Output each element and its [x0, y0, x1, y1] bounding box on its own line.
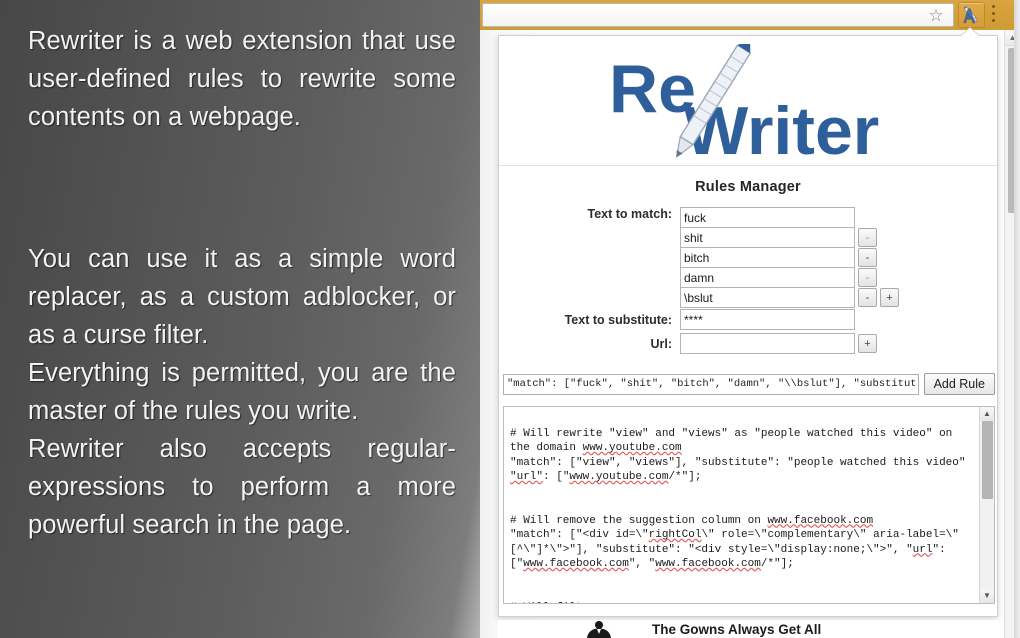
add-url-button[interactable]: + [858, 334, 877, 353]
window-right-edge [1014, 0, 1020, 638]
textarea-scroll-thumb[interactable] [982, 421, 993, 499]
bottom-ad[interactable]: The Gowns Always Get All [498, 620, 998, 638]
match-input-1[interactable] [680, 227, 855, 248]
match-input-stack: - - - - [680, 207, 899, 307]
rewriter-popup: Re Writer [498, 35, 998, 617]
code-block-2: # Will filter curses on every pages "mat… [510, 601, 975, 604]
code-block-1: # Will remove the suggestion column on w… [510, 514, 975, 572]
substitute-label: Text to substitute: [499, 309, 680, 331]
ad-headline: The Gowns Always Get All [652, 622, 821, 637]
substitute-input[interactable] [680, 309, 855, 330]
menu-dot [992, 12, 995, 15]
match-row: - [680, 227, 899, 248]
url-row: + [680, 333, 877, 354]
screenshot-root: Rewriter is a web extension that use use… [0, 0, 1020, 638]
remove-match-button-2[interactable]: - [858, 248, 877, 267]
match-row: - [680, 247, 899, 268]
match-row: - [680, 207, 899, 228]
description-panel: Rewriter is a web extension that use use… [0, 0, 497, 638]
browser-window: More Share Than All Time Favorite ☆ [480, 0, 1020, 638]
code-block-0: # Will rewrite "view" and "views" as "pe… [510, 427, 975, 485]
remove-match-button-4[interactable]: - [858, 288, 877, 307]
match-field-group: Text to match: - - - [499, 207, 997, 307]
person-silhouette-icon [582, 621, 616, 638]
description-text-2a: You can use it as a simple word replacer… [28, 240, 456, 354]
match-input-4[interactable] [680, 287, 855, 308]
rewriter-logo: Re Writer [599, 44, 899, 164]
add-rule-button[interactable]: Add Rule [924, 373, 995, 395]
examples-textarea[interactable]: # Will rewrite "view" and "views" as "pe… [503, 406, 995, 604]
browser-toolbar: ☆ [480, 0, 1020, 30]
substitute-field-group: Text to substitute: [499, 309, 997, 331]
match-row: - + [680, 287, 899, 308]
bookmark-star-icon[interactable]: ☆ [927, 7, 945, 25]
match-input-0[interactable] [680, 207, 855, 228]
match-input-3[interactable] [680, 267, 855, 288]
match-input-2[interactable] [680, 247, 855, 268]
textarea-scroll-down-icon[interactable]: ▼ [980, 589, 994, 603]
rules-manager-title: Rules Manager [499, 179, 997, 195]
menu-dot [992, 5, 995, 8]
url-label: Url: [499, 333, 680, 355]
match-label: Text to match: [499, 207, 680, 221]
description-text-2b: Everything is permitted, you are the mas… [28, 354, 456, 430]
substitute-row [680, 309, 877, 330]
description-text-2c: Rewriter also accepts regular-expression… [28, 430, 456, 544]
textarea-scrollbar[interactable]: ▲ ▼ [979, 407, 994, 603]
pencil-icon [959, 3, 984, 27]
logo-header: Re Writer [499, 36, 997, 166]
rewriter-extension-button[interactable] [958, 2, 985, 28]
remove-match-button-3[interactable]: - [858, 268, 877, 287]
address-bar[interactable]: ☆ [482, 3, 954, 27]
match-row: - [680, 267, 899, 288]
description-paragraph-2: You can use it as a simple word replacer… [28, 240, 456, 544]
url-input[interactable] [680, 333, 855, 354]
examples-code[interactable]: # Will rewrite "view" and "views" as "pe… [504, 407, 979, 603]
textarea-scroll-up-icon[interactable]: ▲ [980, 407, 994, 421]
rules-form: Text to match: - - - [499, 195, 997, 355]
substitute-input-stack [680, 309, 877, 329]
popup-pointer-arrow [961, 28, 979, 36]
browser-menu-icon[interactable] [992, 5, 996, 25]
url-field-group: Url: + [499, 333, 997, 355]
description-text-1: Rewriter is a web extension that use use… [28, 22, 456, 136]
logo-text-re: Re [609, 51, 696, 127]
url-input-stack: + [680, 333, 877, 353]
add-rule-bar: Add Rule [503, 373, 995, 395]
ad-thumbnail [568, 620, 630, 638]
remove-match-button-1[interactable]: - [858, 228, 877, 247]
menu-dot [992, 19, 995, 22]
description-paragraph-1: Rewriter is a web extension that use use… [28, 22, 456, 136]
add-match-button[interactable]: + [880, 288, 899, 307]
rule-preview-input[interactable] [503, 374, 919, 395]
